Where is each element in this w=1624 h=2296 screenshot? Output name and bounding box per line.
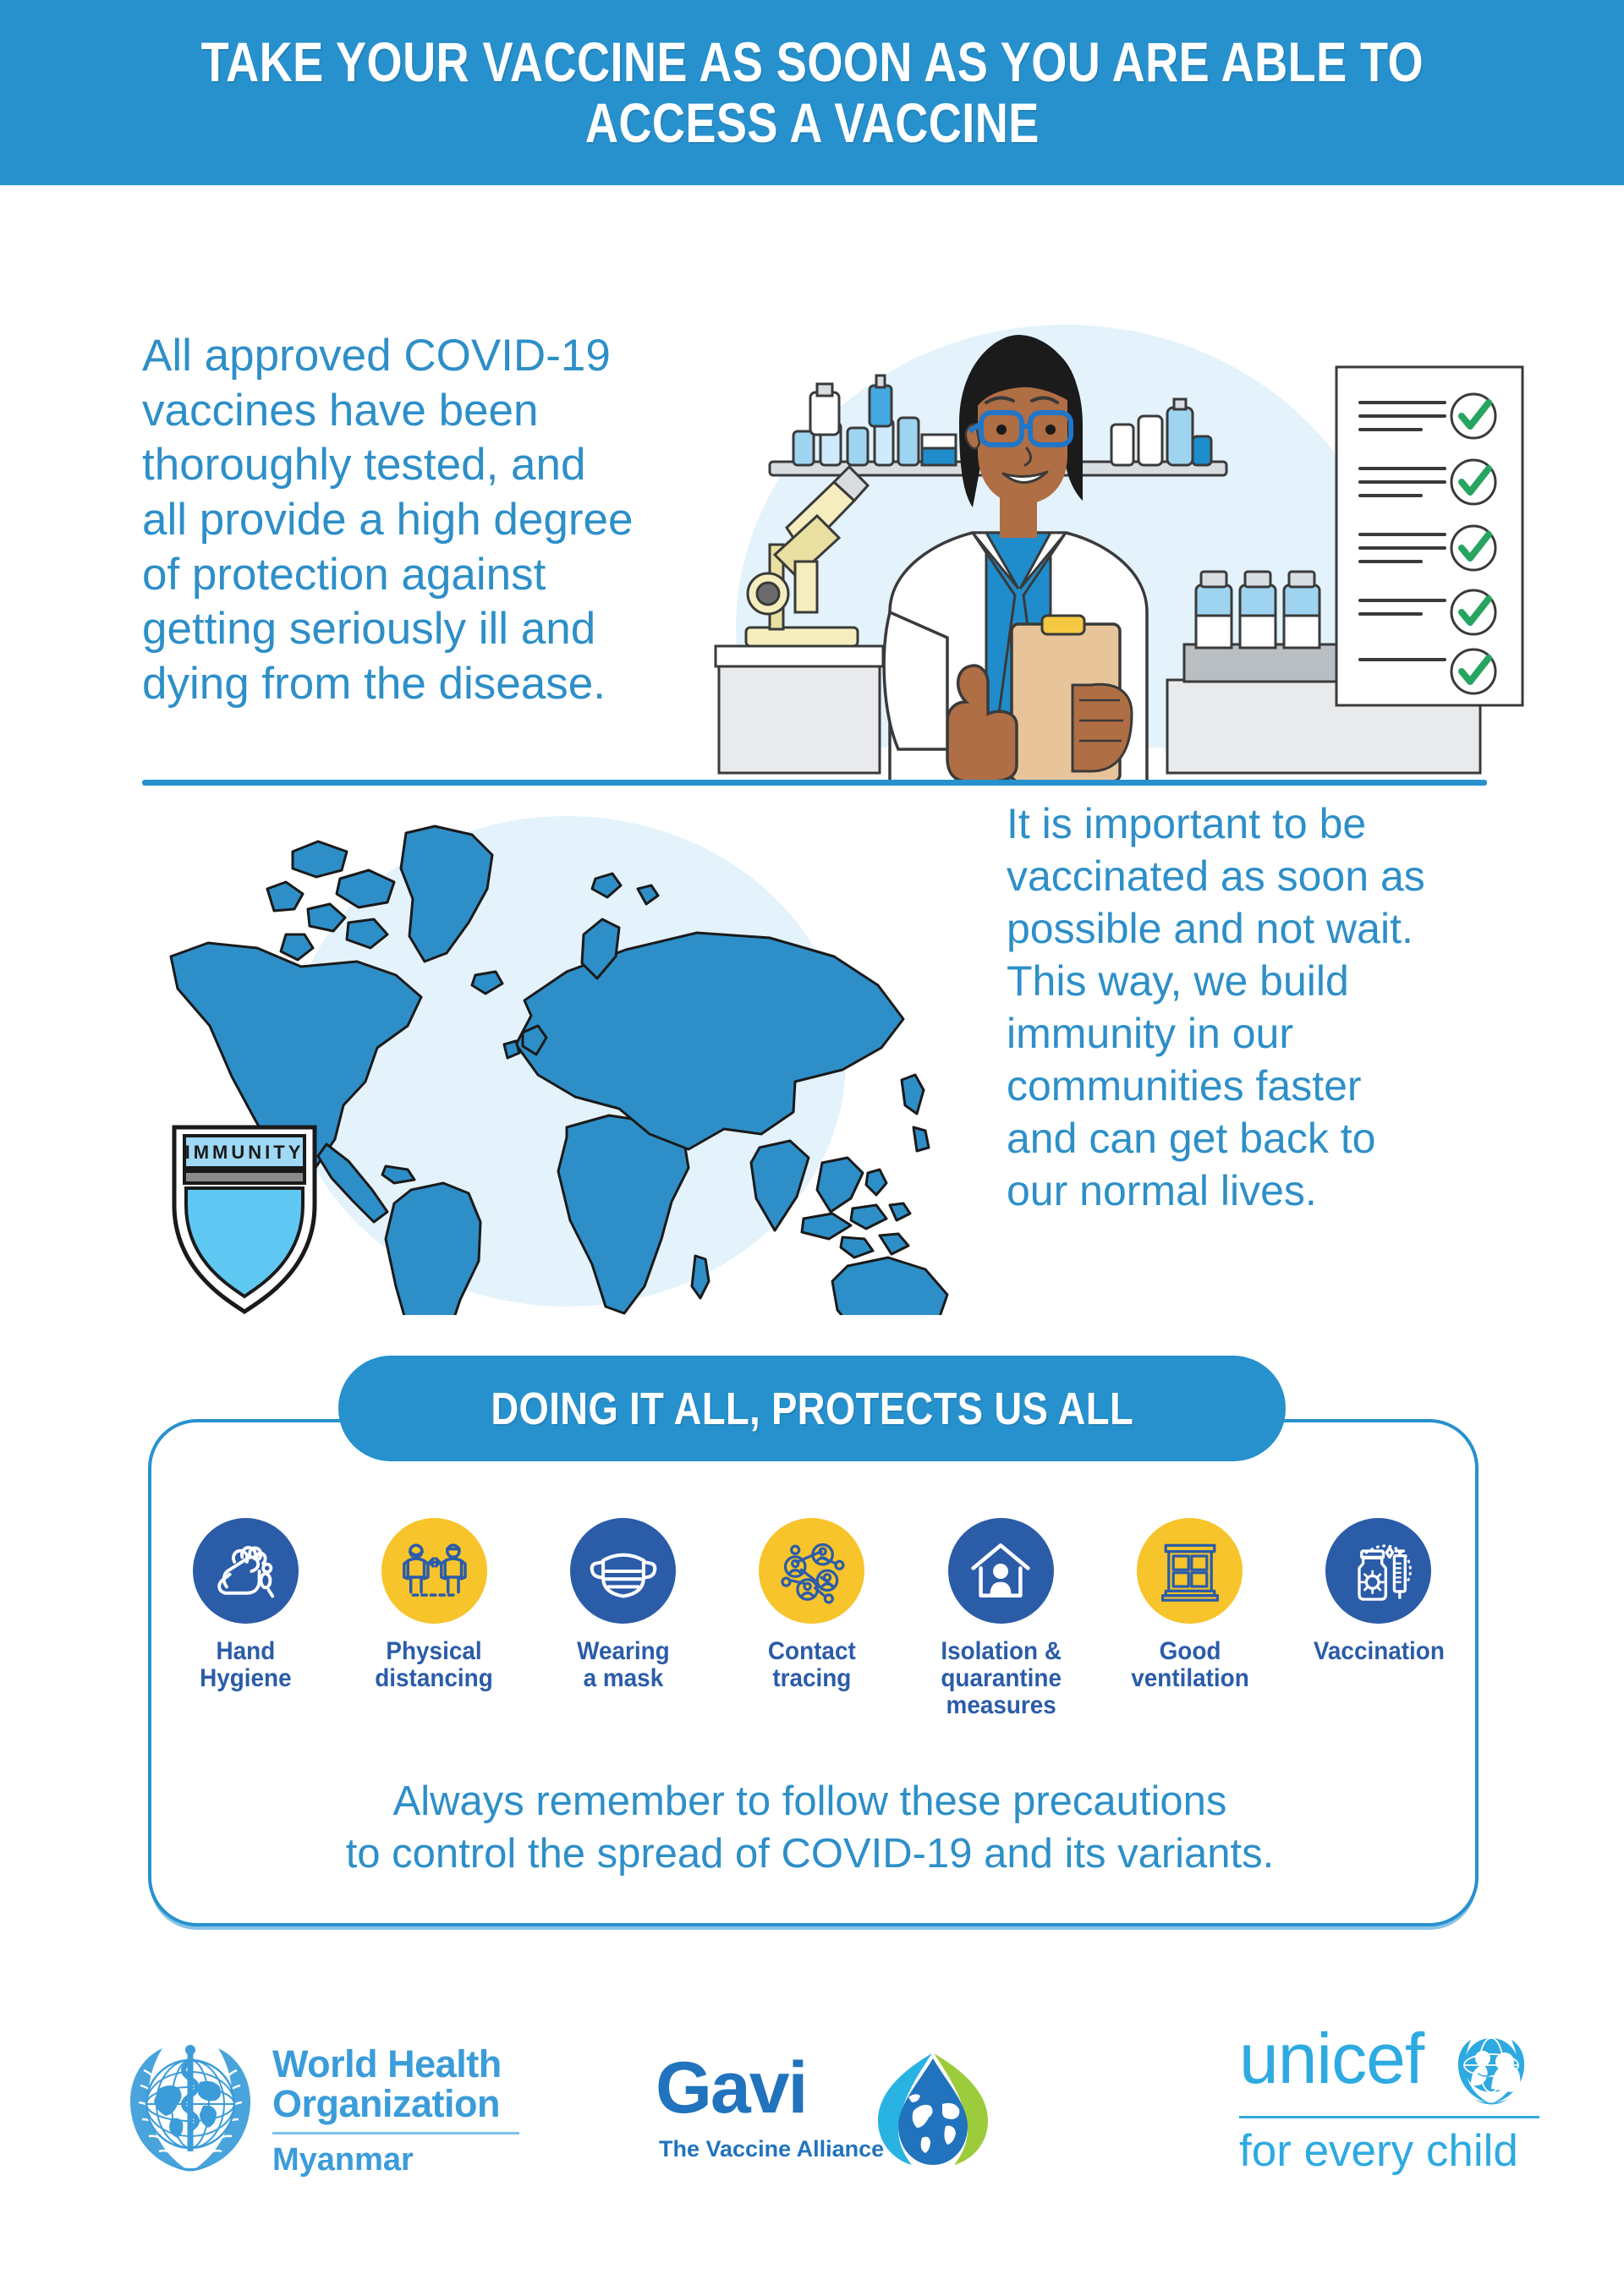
immunity-shield-label: IMMUNITY — [185, 1142, 304, 1163]
section-two-paragraph: It is important to be vaccinated as soon… — [1007, 797, 1514, 1217]
open-window-icon — [1137, 1518, 1243, 1624]
vaccine-vial-syringe-icon — [1325, 1518, 1431, 1624]
section-divider — [142, 780, 1487, 786]
icon-label: Wearing a mask — [577, 1638, 670, 1692]
precaution-item-isolation-quarantine[interactable]: Isolation & quarantine measures — [916, 1518, 1085, 1718]
section-build-immunity: IMMUNITY It is important to be vaccinate… — [0, 795, 1624, 1353]
unicef-divider — [1239, 2116, 1539, 2118]
house-isolation-icon — [948, 1518, 1054, 1624]
who-line-2: Organization — [272, 2085, 526, 2124]
handwashing-icon — [193, 1518, 299, 1624]
protects-us-all-title: DOING IT ALL, PROTECTS US ALL — [491, 1383, 1133, 1435]
precaution-item-contact-tracing[interactable]: Contact tracing — [727, 1518, 897, 1692]
gavi-droplet-globe-icon — [870, 2048, 996, 2173]
who-wordmark: World Health Organization Myanmar — [272, 2045, 526, 2178]
icon-label: Contact tracing — [768, 1638, 856, 1692]
precaution-item-vaccination[interactable]: Vaccination — [1294, 1518, 1463, 1665]
precaution-icons-row: Hand Hygiene — [161, 1518, 1463, 1763]
gavi-logo: Gavi The Vaccine Alliance — [656, 2047, 994, 2190]
physical-distancing-icon — [381, 1518, 487, 1624]
world-map-illustration: IMMUNITY — [127, 808, 973, 1315]
unicef-emblem-icon — [1449, 2030, 1533, 2107]
unicef-wordmark: unicef — [1239, 2023, 1424, 2094]
who-logo: World Health Organization Myanmar — [118, 2030, 524, 2199]
who-country-label: Myanmar — [272, 2142, 526, 2178]
icon-label: Hand Hygiene — [200, 1638, 292, 1692]
precautions-footer-text: Always remember to follow these precauti… — [169, 1776, 1451, 1880]
gavi-tagline: The Vaccine Alliance — [659, 2136, 884, 2162]
icon-label: Physical distancing — [376, 1638, 494, 1692]
face-mask-icon — [570, 1518, 676, 1624]
approval-checklist — [1336, 367, 1522, 705]
who-divider — [272, 2132, 519, 2134]
protects-us-all-banner: DOING IT ALL, PROTECTS US ALL — [338, 1356, 1286, 1461]
partner-logos: World Health Organization Myanmar Gavi T… — [0, 2013, 1624, 2241]
page-header: TAKE YOUR VACCINE AS SOON AS YOU ARE ABL… — [0, 0, 1624, 185]
precaution-item-hand-hygiene[interactable]: Hand Hygiene — [161, 1518, 330, 1692]
precaution-item-wearing-a-mask[interactable]: Wearing a mask — [539, 1518, 708, 1692]
section-one-paragraph: All approved COVID-19 vaccines have been… — [142, 329, 717, 712]
icon-label: Isolation & quarantine measures — [941, 1638, 1062, 1718]
immunity-shield-icon: IMMUNITY — [174, 1127, 315, 1312]
section-vaccines-tested: All approved COVID-19 vaccines have been… — [0, 185, 1624, 782]
icon-label: Vaccination — [1313, 1638, 1444, 1665]
contact-tracing-network-icon — [759, 1518, 864, 1624]
unicef-logo: unicef — [1239, 2021, 1544, 2199]
lab-scientist-illustration — [668, 274, 1531, 781]
icon-label: Good ventilation — [1131, 1638, 1249, 1692]
who-emblem-icon — [118, 2036, 262, 2180]
unicef-tagline: for every child — [1239, 2129, 1544, 2173]
gavi-wordmark: Gavi — [656, 2052, 806, 2124]
who-line-1: World Health — [272, 2045, 526, 2085]
page-title: TAKE YOUR VACCINE AS SOON AS YOU ARE ABL… — [200, 32, 1423, 153]
precaution-item-physical-distancing[interactable]: Physical distancing — [349, 1518, 518, 1692]
precaution-item-good-ventilation[interactable]: Good ventilation — [1106, 1518, 1275, 1692]
